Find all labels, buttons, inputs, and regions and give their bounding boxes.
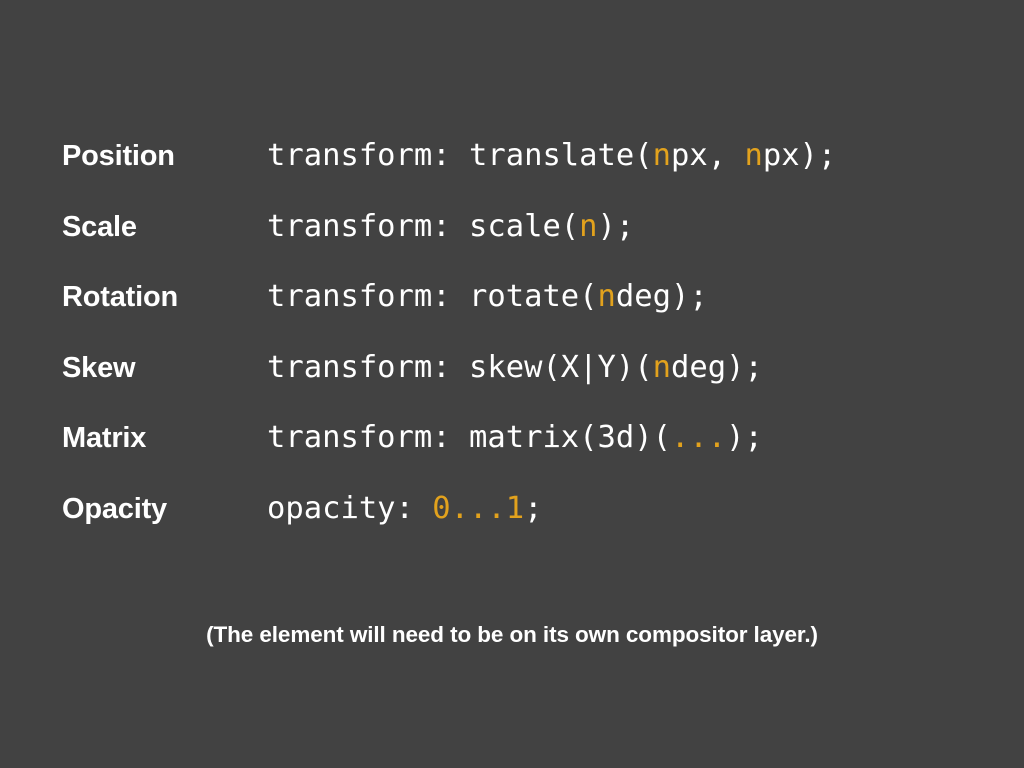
- code-text: deg);: [616, 279, 708, 314]
- code-placeholder: n: [579, 209, 597, 244]
- slide-canvas: Positiontransform: translate(npx, npx);S…: [0, 0, 1024, 768]
- property-label: Matrix: [62, 422, 267, 455]
- code-text: transform: matrix(3d)(: [267, 420, 671, 455]
- code-text: ;: [524, 491, 542, 526]
- property-row: Opacityopacity: 0...1;: [62, 491, 962, 562]
- property-label: Skew: [62, 352, 267, 385]
- code-text: transform: scale(: [267, 209, 579, 244]
- code-text: deg);: [671, 350, 763, 385]
- slide-caption: (The element will need to be on its own …: [0, 622, 1024, 648]
- code-text: transform: skew(X|Y)(: [267, 350, 653, 385]
- property-code: transform: matrix(3d)(...);: [267, 420, 962, 455]
- property-row: Skewtransform: skew(X|Y)(ndeg);: [62, 350, 962, 421]
- property-label: Position: [62, 140, 267, 173]
- code-placeholder: n: [653, 350, 671, 385]
- code-text: px);: [763, 138, 836, 173]
- code-placeholder: ...: [671, 420, 726, 455]
- code-text: transform: rotate(: [267, 279, 598, 314]
- property-code: opacity: 0...1;: [267, 491, 962, 526]
- code-placeholder: n: [653, 138, 671, 173]
- code-text: transform: translate(: [267, 138, 653, 173]
- code-text: );: [726, 420, 763, 455]
- code-text: px,: [671, 138, 744, 173]
- property-row: Matrixtransform: matrix(3d)(...);: [62, 420, 962, 491]
- property-row: Scaletransform: scale(n);: [62, 209, 962, 280]
- property-list: Positiontransform: translate(npx, npx);S…: [62, 138, 962, 561]
- property-label: Scale: [62, 211, 267, 244]
- property-row: Rotationtransform: rotate(ndeg);: [62, 279, 962, 350]
- code-text: );: [598, 209, 635, 244]
- property-label: Opacity: [62, 493, 267, 526]
- property-row: Positiontransform: translate(npx, npx);: [62, 138, 962, 209]
- property-code: transform: translate(npx, npx);: [267, 138, 962, 173]
- property-code: transform: skew(X|Y)(ndeg);: [267, 350, 962, 385]
- code-placeholder: 0...1: [432, 491, 524, 526]
- property-code: transform: rotate(ndeg);: [267, 279, 962, 314]
- code-text: opacity:: [267, 491, 432, 526]
- property-code: transform: scale(n);: [267, 209, 962, 244]
- code-placeholder: n: [744, 138, 762, 173]
- code-placeholder: n: [598, 279, 616, 314]
- property-label: Rotation: [62, 281, 267, 314]
